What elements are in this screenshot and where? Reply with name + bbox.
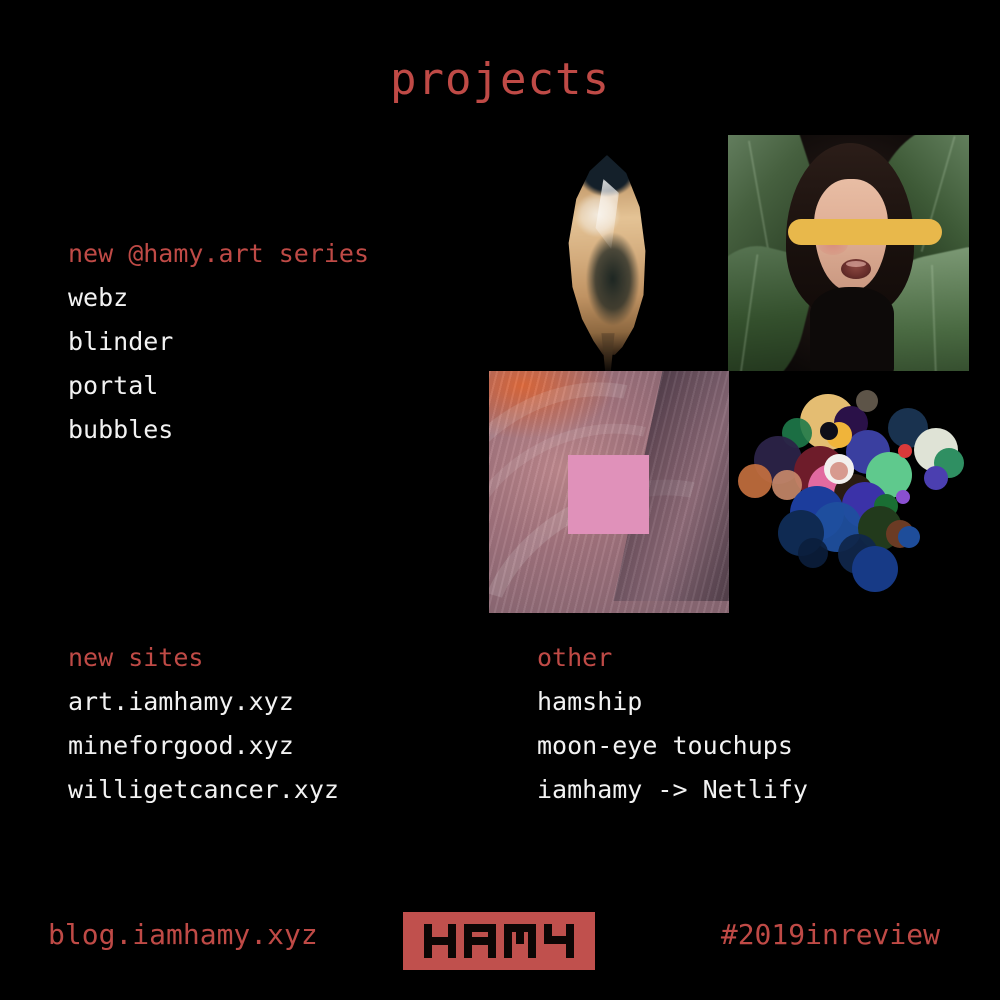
- bubble-shape: [856, 390, 878, 412]
- list-item[interactable]: moon-eye touchups: [537, 724, 808, 768]
- hamy-logo-glyphs: [424, 924, 574, 958]
- group-new-art-series: new @hamy.art series webz blinder portal…: [68, 232, 369, 452]
- group-other: other hamship moon-eye touchups iamhamy …: [537, 636, 808, 812]
- bubble-shape: [798, 538, 828, 568]
- bird-feather-image: [489, 135, 728, 371]
- canyon-image: [489, 371, 729, 613]
- list-item[interactable]: hamship: [537, 680, 808, 724]
- list-item[interactable]: bubbles: [68, 408, 369, 452]
- group-heading-other: other: [537, 636, 808, 680]
- list-item[interactable]: art.iamhamy.xyz: [68, 680, 339, 724]
- list-item[interactable]: iamhamy -> Netlify: [537, 768, 808, 812]
- pink-square-overlay: [568, 455, 649, 534]
- bubbles-image: [738, 378, 969, 613]
- portrait-turtleneck: [810, 287, 894, 371]
- footer-blog-link[interactable]: blog.iamhamy.xyz: [48, 918, 318, 951]
- list-item[interactable]: mineforgood.xyz: [68, 724, 339, 768]
- bubble-shape: [852, 546, 898, 592]
- censor-bar-overlay: [788, 219, 942, 245]
- hamy-logo: [403, 912, 595, 970]
- group-heading-new-art-series: new @hamy.art series: [68, 232, 369, 276]
- portrait-leaves-image: [728, 135, 969, 371]
- bubble-shape: [830, 462, 848, 480]
- list-item[interactable]: willigetcancer.xyz: [68, 768, 339, 812]
- page-title: projects: [0, 54, 1000, 105]
- list-item[interactable]: portal: [68, 364, 369, 408]
- bubble-shape: [896, 490, 910, 504]
- bubble-shape: [820, 422, 838, 440]
- slide-canvas: projects new @hamy.art series webz blind…: [0, 0, 1000, 1000]
- bubble-shape: [898, 526, 920, 548]
- list-item[interactable]: webz: [68, 276, 369, 320]
- list-item[interactable]: blinder: [68, 320, 369, 364]
- bubble-shape: [924, 466, 948, 490]
- portrait-lip-highlight: [846, 261, 866, 267]
- bubble-shape: [898, 444, 912, 458]
- group-new-sites: new sites art.iamhamy.xyz mineforgood.xy…: [68, 636, 339, 812]
- footer-hashtag: #2019inreview: [721, 918, 940, 951]
- bubble-shape: [738, 464, 772, 498]
- group-heading-new-sites: new sites: [68, 636, 339, 680]
